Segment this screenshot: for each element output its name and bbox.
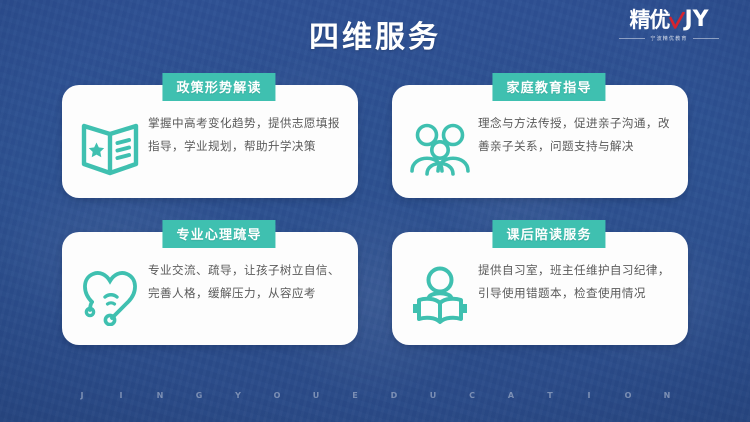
person-reading-icon xyxy=(402,258,478,334)
service-card-grid: 政策形势解读 掌握中高考变化趋势，提供志愿填报指导，学业规划，帮助升学决策 xyxy=(62,85,688,345)
logo-latin-text: JY xyxy=(684,9,708,31)
card-badge: 政策形势解读 xyxy=(162,73,275,101)
logo-rule-left xyxy=(619,38,645,39)
heart-stethoscope-icon xyxy=(72,258,148,334)
footer-letter: E xyxy=(336,391,375,400)
service-card[interactable]: 政策形势解读 掌握中高考变化趋势，提供志愿填报指导，学业规划，帮助升学决策 xyxy=(62,85,358,198)
card-badge: 家庭教育指导 xyxy=(492,73,605,101)
card-body: 掌握中高考变化趋势，提供志愿填报指导，学业规划，帮助升学决策 xyxy=(62,103,358,198)
card-body: 提供自习室，班主任维护自习纪律，引导使用错题本，检查使用情况 xyxy=(392,250,688,345)
card-badge: 课后陪读服务 xyxy=(492,220,605,248)
logo-main: 精优 JY xyxy=(604,9,734,31)
footer-letter: O xyxy=(609,391,648,400)
footer-letter: T xyxy=(531,391,570,400)
footer-wordmark: JINGYOUEDUCATION xyxy=(0,391,750,400)
service-card[interactable]: 专业心理疏导 专业交流、疏导，让孩子树立自信、完善人格，缓解压力，从容应考 xyxy=(62,232,358,345)
footer-letter: U xyxy=(414,391,453,400)
footer-letter: C xyxy=(453,391,492,400)
book-star-icon xyxy=(72,111,148,187)
footer-letter: Y xyxy=(219,391,258,400)
card-description: 专业交流、疏导，让孩子树立自信、完善人格，缓解压力，从容应考 xyxy=(148,258,344,304)
logo-chinese-text: 精优 xyxy=(629,10,669,31)
footer-letter: O xyxy=(258,391,297,400)
card-badge: 专业心理疏导 xyxy=(162,220,275,248)
footer-letter: N xyxy=(141,391,180,400)
footer-letter: I xyxy=(102,391,141,400)
card-body: 专业交流、疏导，让孩子树立自信、完善人格，缓解压力，从容应考 xyxy=(62,250,358,345)
footer-letter: N xyxy=(648,391,687,400)
footer-letter: J xyxy=(63,391,102,400)
footer-letter: I xyxy=(570,391,609,400)
footer-letter: A xyxy=(492,391,531,400)
card-body: 理念与方法传授，促进亲子沟通，改善亲子关系，问题支持与解决 xyxy=(392,103,688,198)
logo-rule-right xyxy=(693,38,719,39)
card-description: 理念与方法传授，促进亲子沟通，改善亲子关系，问题支持与解决 xyxy=(478,111,674,157)
footer-letter: D xyxy=(375,391,414,400)
service-card[interactable]: 课后陪读服务 提供自习室，班主任维护自习纪律，引导使用错题本，检查使用情况 xyxy=(392,232,688,345)
family-group-icon xyxy=(402,111,478,187)
footer-letter: G xyxy=(180,391,219,400)
logo-tagline: 宁波精优教育 xyxy=(650,35,687,42)
footer-letter: U xyxy=(297,391,336,400)
red-check-icon xyxy=(669,11,685,29)
logo-tagline-row: 宁波精优教育 xyxy=(604,35,734,42)
brand-logo: 精优 JY 宁波精优教育 xyxy=(604,9,734,42)
card-description: 掌握中高考变化趋势，提供志愿填报指导，学业规划，帮助升学决策 xyxy=(148,111,344,157)
service-card[interactable]: 家庭教育指导 理念与方法传授，促进亲子沟通，改善亲子关系，问题支持与解决 xyxy=(392,85,688,198)
slide-canvas: 四维服务 精优 JY 宁波精优教育 政策形势解读 xyxy=(0,0,750,422)
card-description: 提供自习室，班主任维护自习纪律，引导使用错题本，检查使用情况 xyxy=(478,258,674,304)
